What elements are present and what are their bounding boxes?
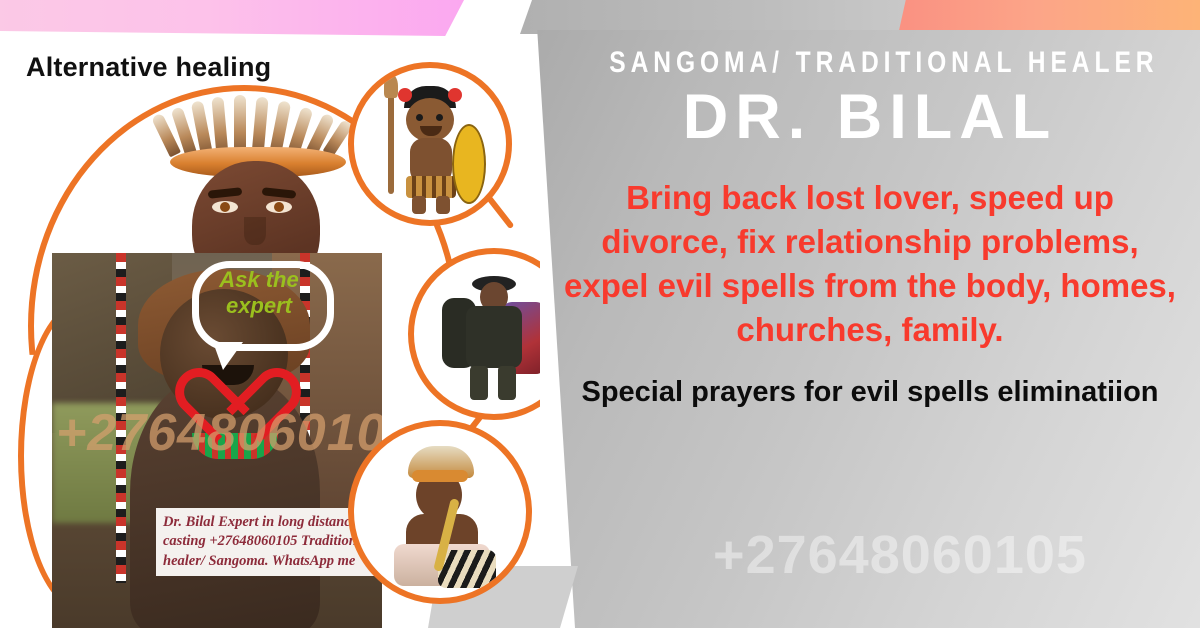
brand-title: DR. BILAL [552, 84, 1188, 150]
kicker-text: SANGOMA/ TRADITIONAL HEALER [609, 46, 1131, 80]
right-text-column: SANGOMA/ TRADITIONAL HEALER DR. BILAL Br… [552, 46, 1188, 411]
healer-photograph: Ask the expert +27648060105 Dr. Bilal Ex… [52, 253, 382, 628]
prayers-text: Special prayers for evil spells eliminat… [552, 374, 1188, 412]
top-bar-orange [898, 0, 1200, 35]
services-text: Bring back lost lover, speed up divorce,… [552, 176, 1188, 352]
speech-bubble-text: Ask the expert [200, 267, 318, 319]
poster-canvas: Alternative healing [0, 0, 1200, 628]
photo-watermark: +27648060105 [56, 403, 382, 463]
circle-badge-kneeling-warrior-icon [348, 420, 532, 604]
left-visual-section: Alternative healing [0, 0, 540, 628]
alternative-healing-heading: Alternative healing [26, 52, 271, 83]
top-bar-gray [520, 0, 920, 34]
circle-badge-zulu-warrior-icon [348, 62, 512, 226]
